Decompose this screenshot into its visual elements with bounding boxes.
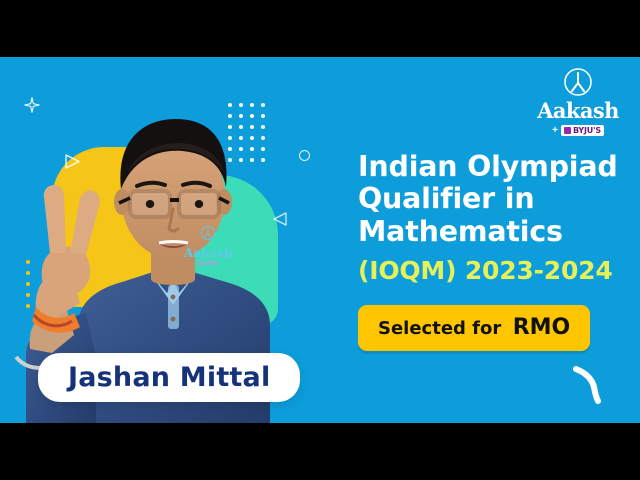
thumbnail-canvas: Aakash BYJU'S Jashan Mittal Indian Olymp… [0, 57, 640, 423]
student-name: Jashan Mittal [68, 362, 270, 393]
brand-partner-lockup: + BYJU'S [530, 125, 626, 136]
shirt-chest-logo: Aakash BYJU'S [184, 225, 233, 267]
aakash-swoosh-icon [570, 363, 614, 407]
headline-line-2: Qualifier in [358, 183, 624, 215]
byjus-square-icon [564, 127, 571, 134]
video-thumbnail: Aakash BYJU'S Jashan Mittal Indian Olymp… [0, 0, 640, 480]
brand-name: Aakash [530, 98, 626, 123]
brand-plus-symbol: + [552, 125, 558, 136]
triangle-outline-icon [272, 211, 288, 227]
shirt-logo-sub: BYJU'S [184, 261, 233, 267]
headline-line-1: Indian Olympiad [358, 151, 624, 183]
exam-year-subheadline: (IOQM) 2023-2024 [358, 256, 624, 285]
headline-block: Indian Olympiad Qualifier in Mathematics… [358, 151, 624, 351]
headline-line-3: Mathematics [358, 216, 624, 248]
byjus-label: BYJU'S [573, 126, 601, 135]
badge-exam-label: RMO [513, 315, 571, 340]
student-name-plate: Jashan Mittal [38, 353, 300, 402]
shirt-logo-word: Aakash [184, 246, 233, 260]
letterbox-bar-top [0, 0, 640, 57]
triangle-outline-icon [64, 153, 81, 170]
brand-logo: Aakash + BYJU'S [530, 67, 626, 136]
letterbox-bar-bottom [0, 423, 640, 480]
byjus-badge: BYJU'S [561, 125, 604, 136]
aakash-logo-icon [200, 225, 216, 241]
aakash-logo-icon [563, 67, 593, 97]
badge-prefix-label: Selected for [378, 318, 501, 339]
status-badge: Selected for RMO [358, 305, 590, 351]
